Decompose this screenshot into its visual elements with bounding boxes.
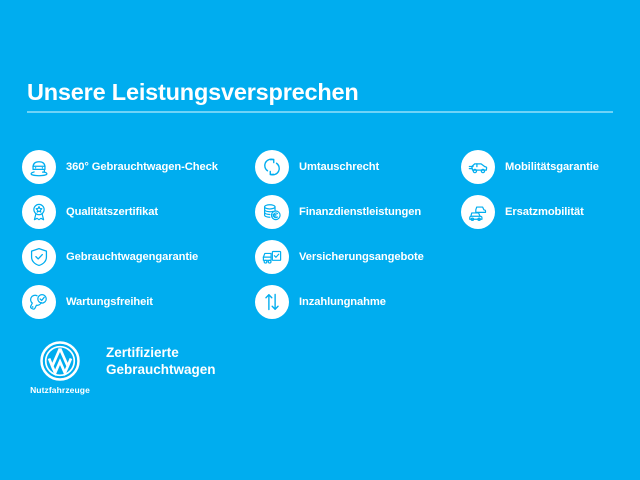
feature-label: Mobilitätsgarantie — [505, 161, 599, 173]
feature-item-inzahlungnahme[interactable]: Inzahlungnahme — [255, 279, 455, 324]
feature-label: Finanzdienstleistungen — [299, 206, 421, 218]
feature-label: Versicherungsangebote — [299, 251, 424, 263]
feature-label: Gebrauchtwagengarantie — [66, 251, 198, 263]
feature-column-1: 360° Gebrauchtwagen-Check Qualitätszerti… — [22, 144, 252, 324]
feature-item-wartungsfreiheit[interactable]: Wartungsfreiheit — [22, 279, 252, 324]
feature-label: Qualitätszertifikat — [66, 206, 158, 218]
car-tow-icon — [461, 150, 495, 184]
shield-check-icon — [22, 240, 56, 274]
exchange-arrows-icon — [255, 150, 289, 184]
medal-rosette-icon — [22, 195, 56, 229]
feature-grid: 360° Gebrauchtwagen-Check Qualitätszerti… — [0, 144, 640, 329]
two-cars-icon — [461, 195, 495, 229]
feature-label: 360° Gebrauchtwagen-Check — [66, 161, 218, 173]
up-down-arrows-icon — [255, 285, 289, 319]
car-document-check-icon — [255, 240, 289, 274]
brand-text: Zertifizierte Gebrauchtwagen — [106, 344, 216, 378]
feature-column-3: Mobilitätsgarantie Ersatzmobilität — [461, 144, 636, 234]
brand-line-2: Gebrauchtwagen — [106, 361, 216, 378]
feature-item-versicherungsangebote[interactable]: Versicherungsangebote — [255, 234, 455, 279]
feature-column-2: Umtauschrecht Finanz — [255, 144, 455, 324]
car-360-check-icon — [22, 150, 56, 184]
brand-logo-wrap: Nutzfahrzeuge — [24, 340, 96, 395]
feature-item-gebrauchtwagengarantie[interactable]: Gebrauchtwagengarantie — [22, 234, 252, 279]
feature-label: Wartungsfreiheit — [66, 296, 153, 308]
volkswagen-logo — [39, 340, 81, 382]
title-block: Unsere Leistungsversprechen — [27, 78, 613, 113]
brand-block: Nutzfahrzeuge Zertifizierte Gebrauchtwag… — [24, 340, 216, 395]
feature-item-umtauschrecht[interactable]: Umtauschrecht — [255, 144, 455, 189]
feature-item-mobilitaetsgarantie[interactable]: Mobilitätsgarantie — [461, 144, 636, 189]
feature-label: Inzahlungnahme — [299, 296, 386, 308]
feature-item-ersatzmobilitaet[interactable]: Ersatzmobilität — [461, 189, 636, 234]
promise-panel: Unsere Leistungsversprechen 360° Gebrauc… — [0, 0, 640, 480]
brand-line-1: Zertifizierte — [106, 344, 216, 361]
feature-label: Umtauschrecht — [299, 161, 379, 173]
page-title: Unsere Leistungsversprechen — [27, 78, 613, 106]
feature-item-finanzdienstleistungen[interactable]: Finanzdienstleistungen — [255, 189, 455, 234]
feature-item-qualitaetszertifikat[interactable]: Qualitätszertifikat — [22, 189, 252, 234]
wrench-check-icon — [22, 285, 56, 319]
coins-euro-icon — [255, 195, 289, 229]
title-underline-rule — [27, 111, 613, 113]
feature-item-gebrauchtwagen-check[interactable]: 360° Gebrauchtwagen-Check — [22, 144, 252, 189]
feature-label: Ersatzmobilität — [505, 206, 584, 218]
brand-sub-label: Nutzfahrzeuge — [30, 385, 90, 395]
